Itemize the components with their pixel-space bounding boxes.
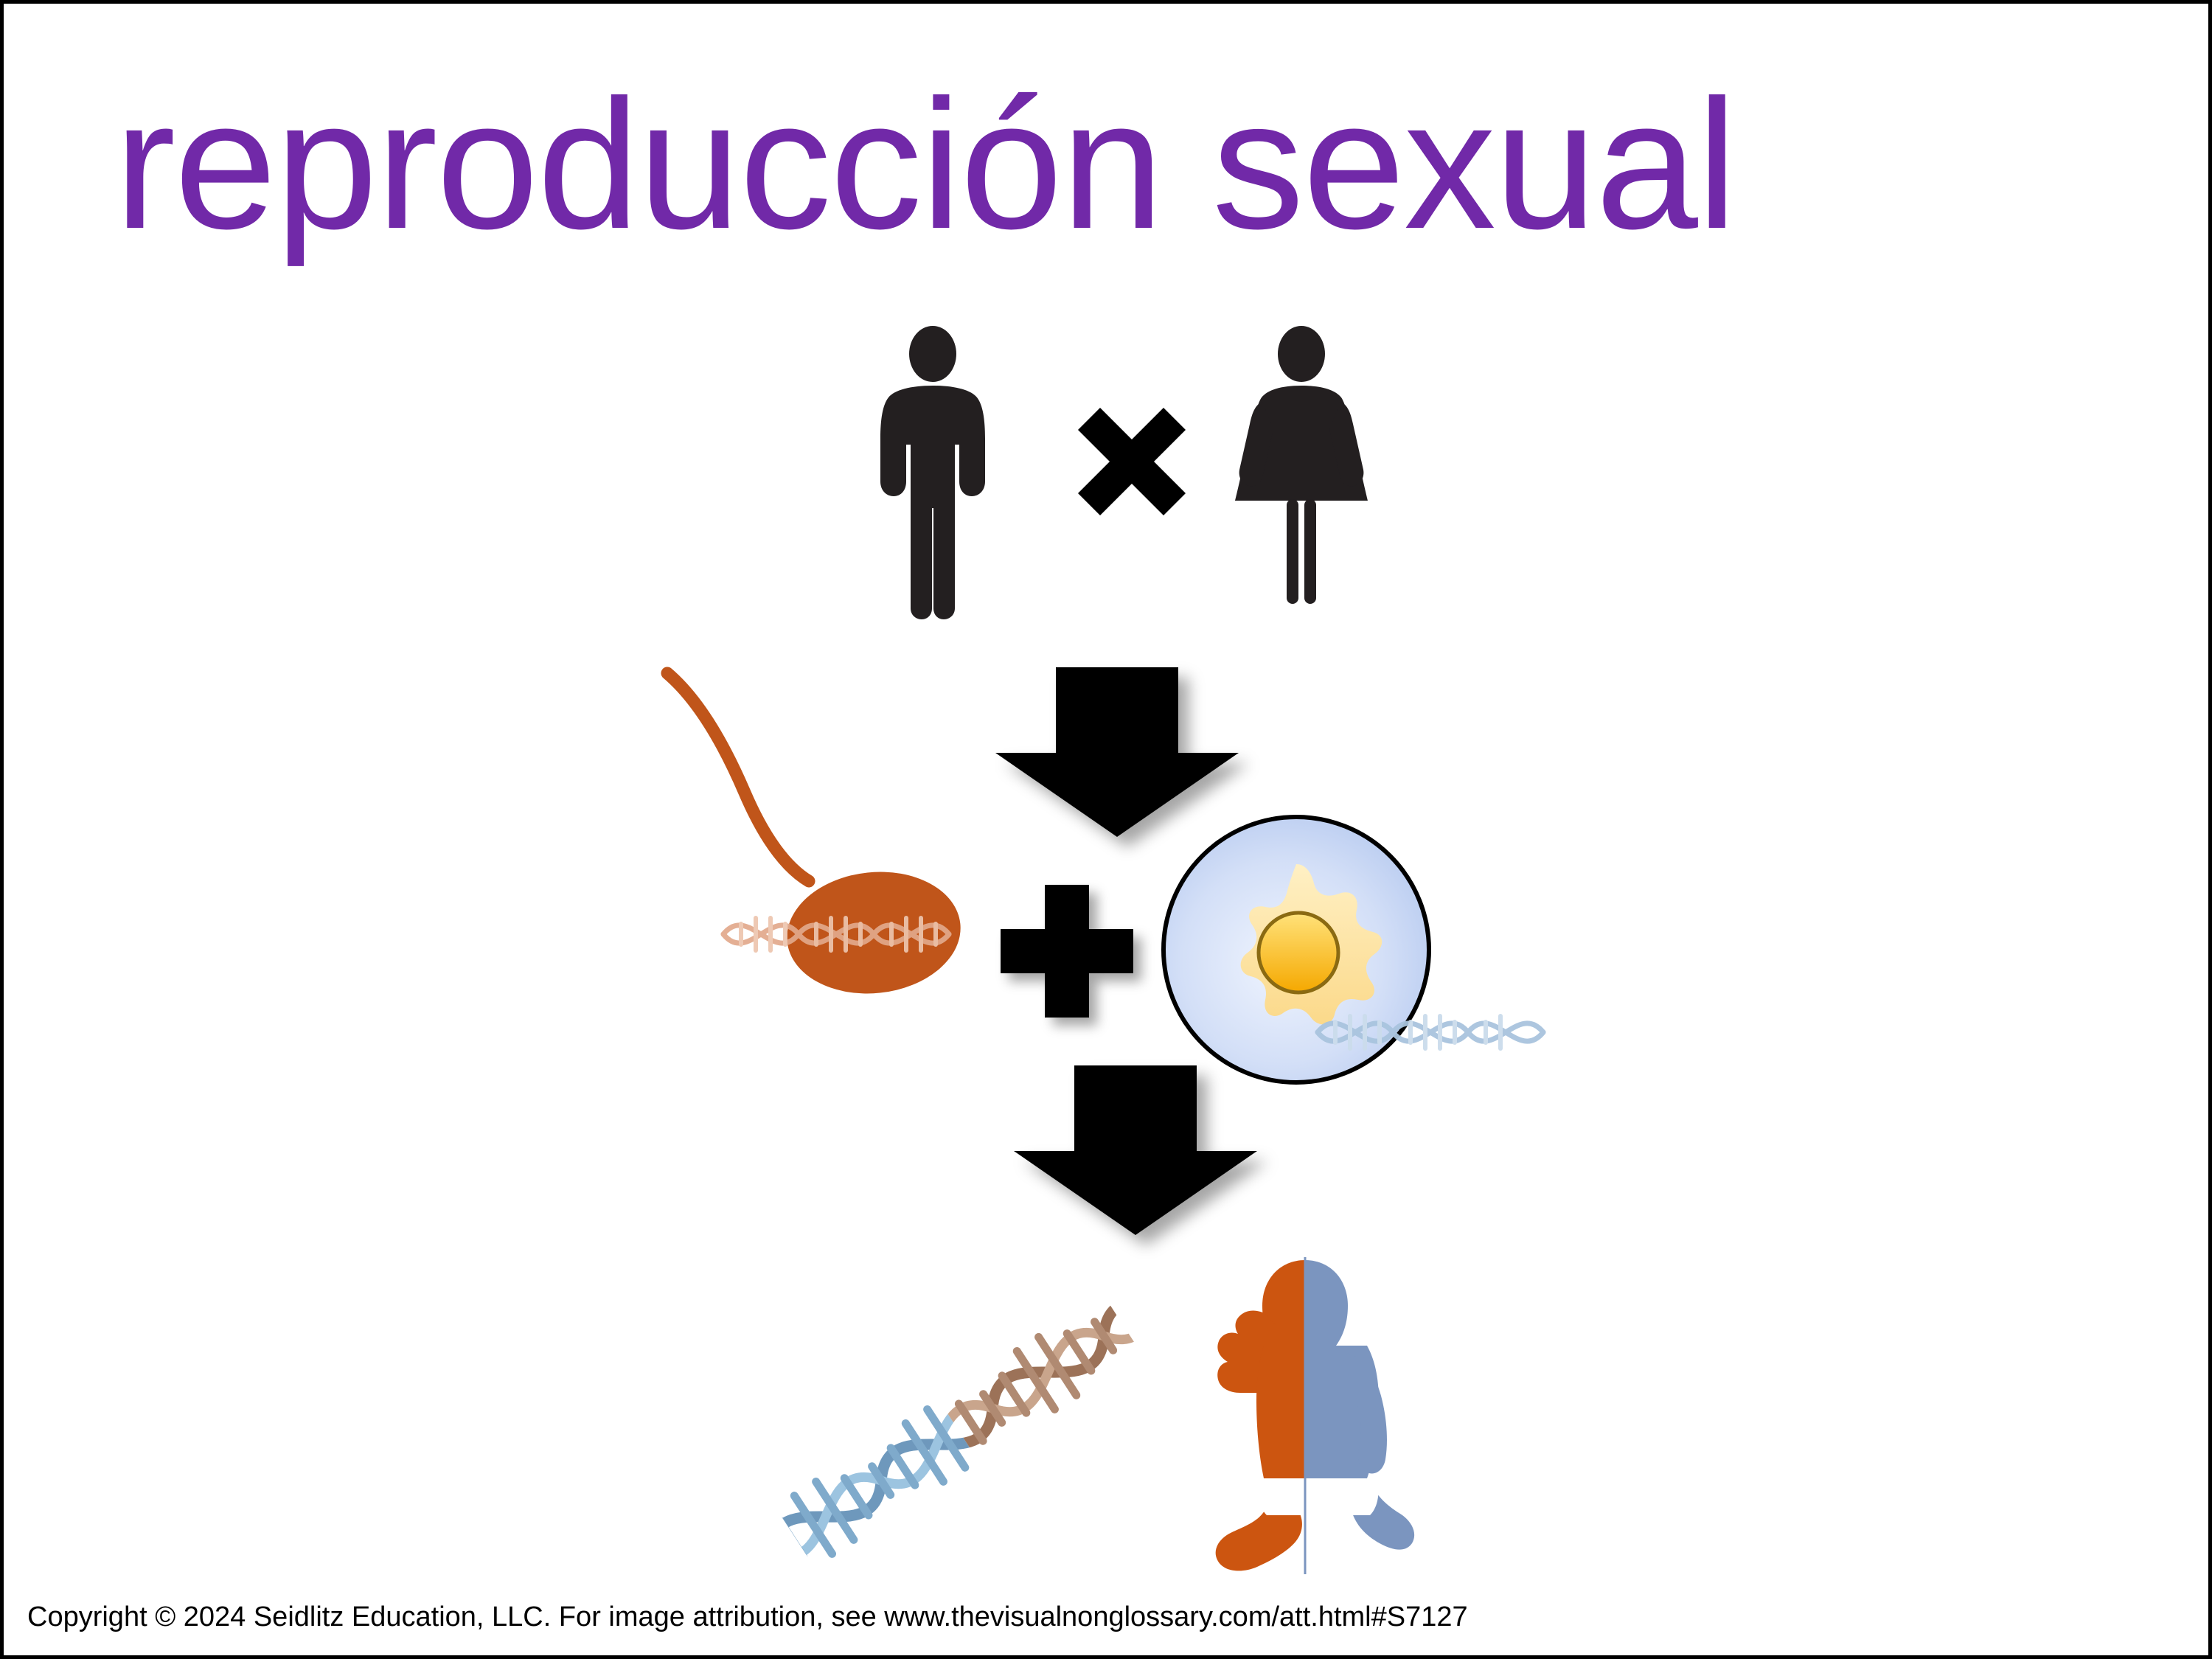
down-arrow-icon-2: [1014, 1065, 1257, 1235]
page-title: reproducción sexual: [114, 76, 2120, 253]
sperm-cell-illustration: [653, 660, 1006, 1051]
parents-row: [837, 328, 1397, 616]
female-figure-icon: [1228, 328, 1375, 616]
copyright-footer: Copyright © 2024 Seidlitz Education, LLC…: [27, 1601, 1468, 1633]
vocabulary-slide: reproducción sexual: [0, 0, 2212, 1659]
male-figure-icon: [859, 328, 1006, 616]
dna-helix-illustration: [763, 1301, 1154, 1559]
cross-operator-icon: [1069, 408, 1194, 533]
offspring-baby-icon: [1154, 1257, 1500, 1574]
plus-operator-icon: [1001, 885, 1133, 1018]
